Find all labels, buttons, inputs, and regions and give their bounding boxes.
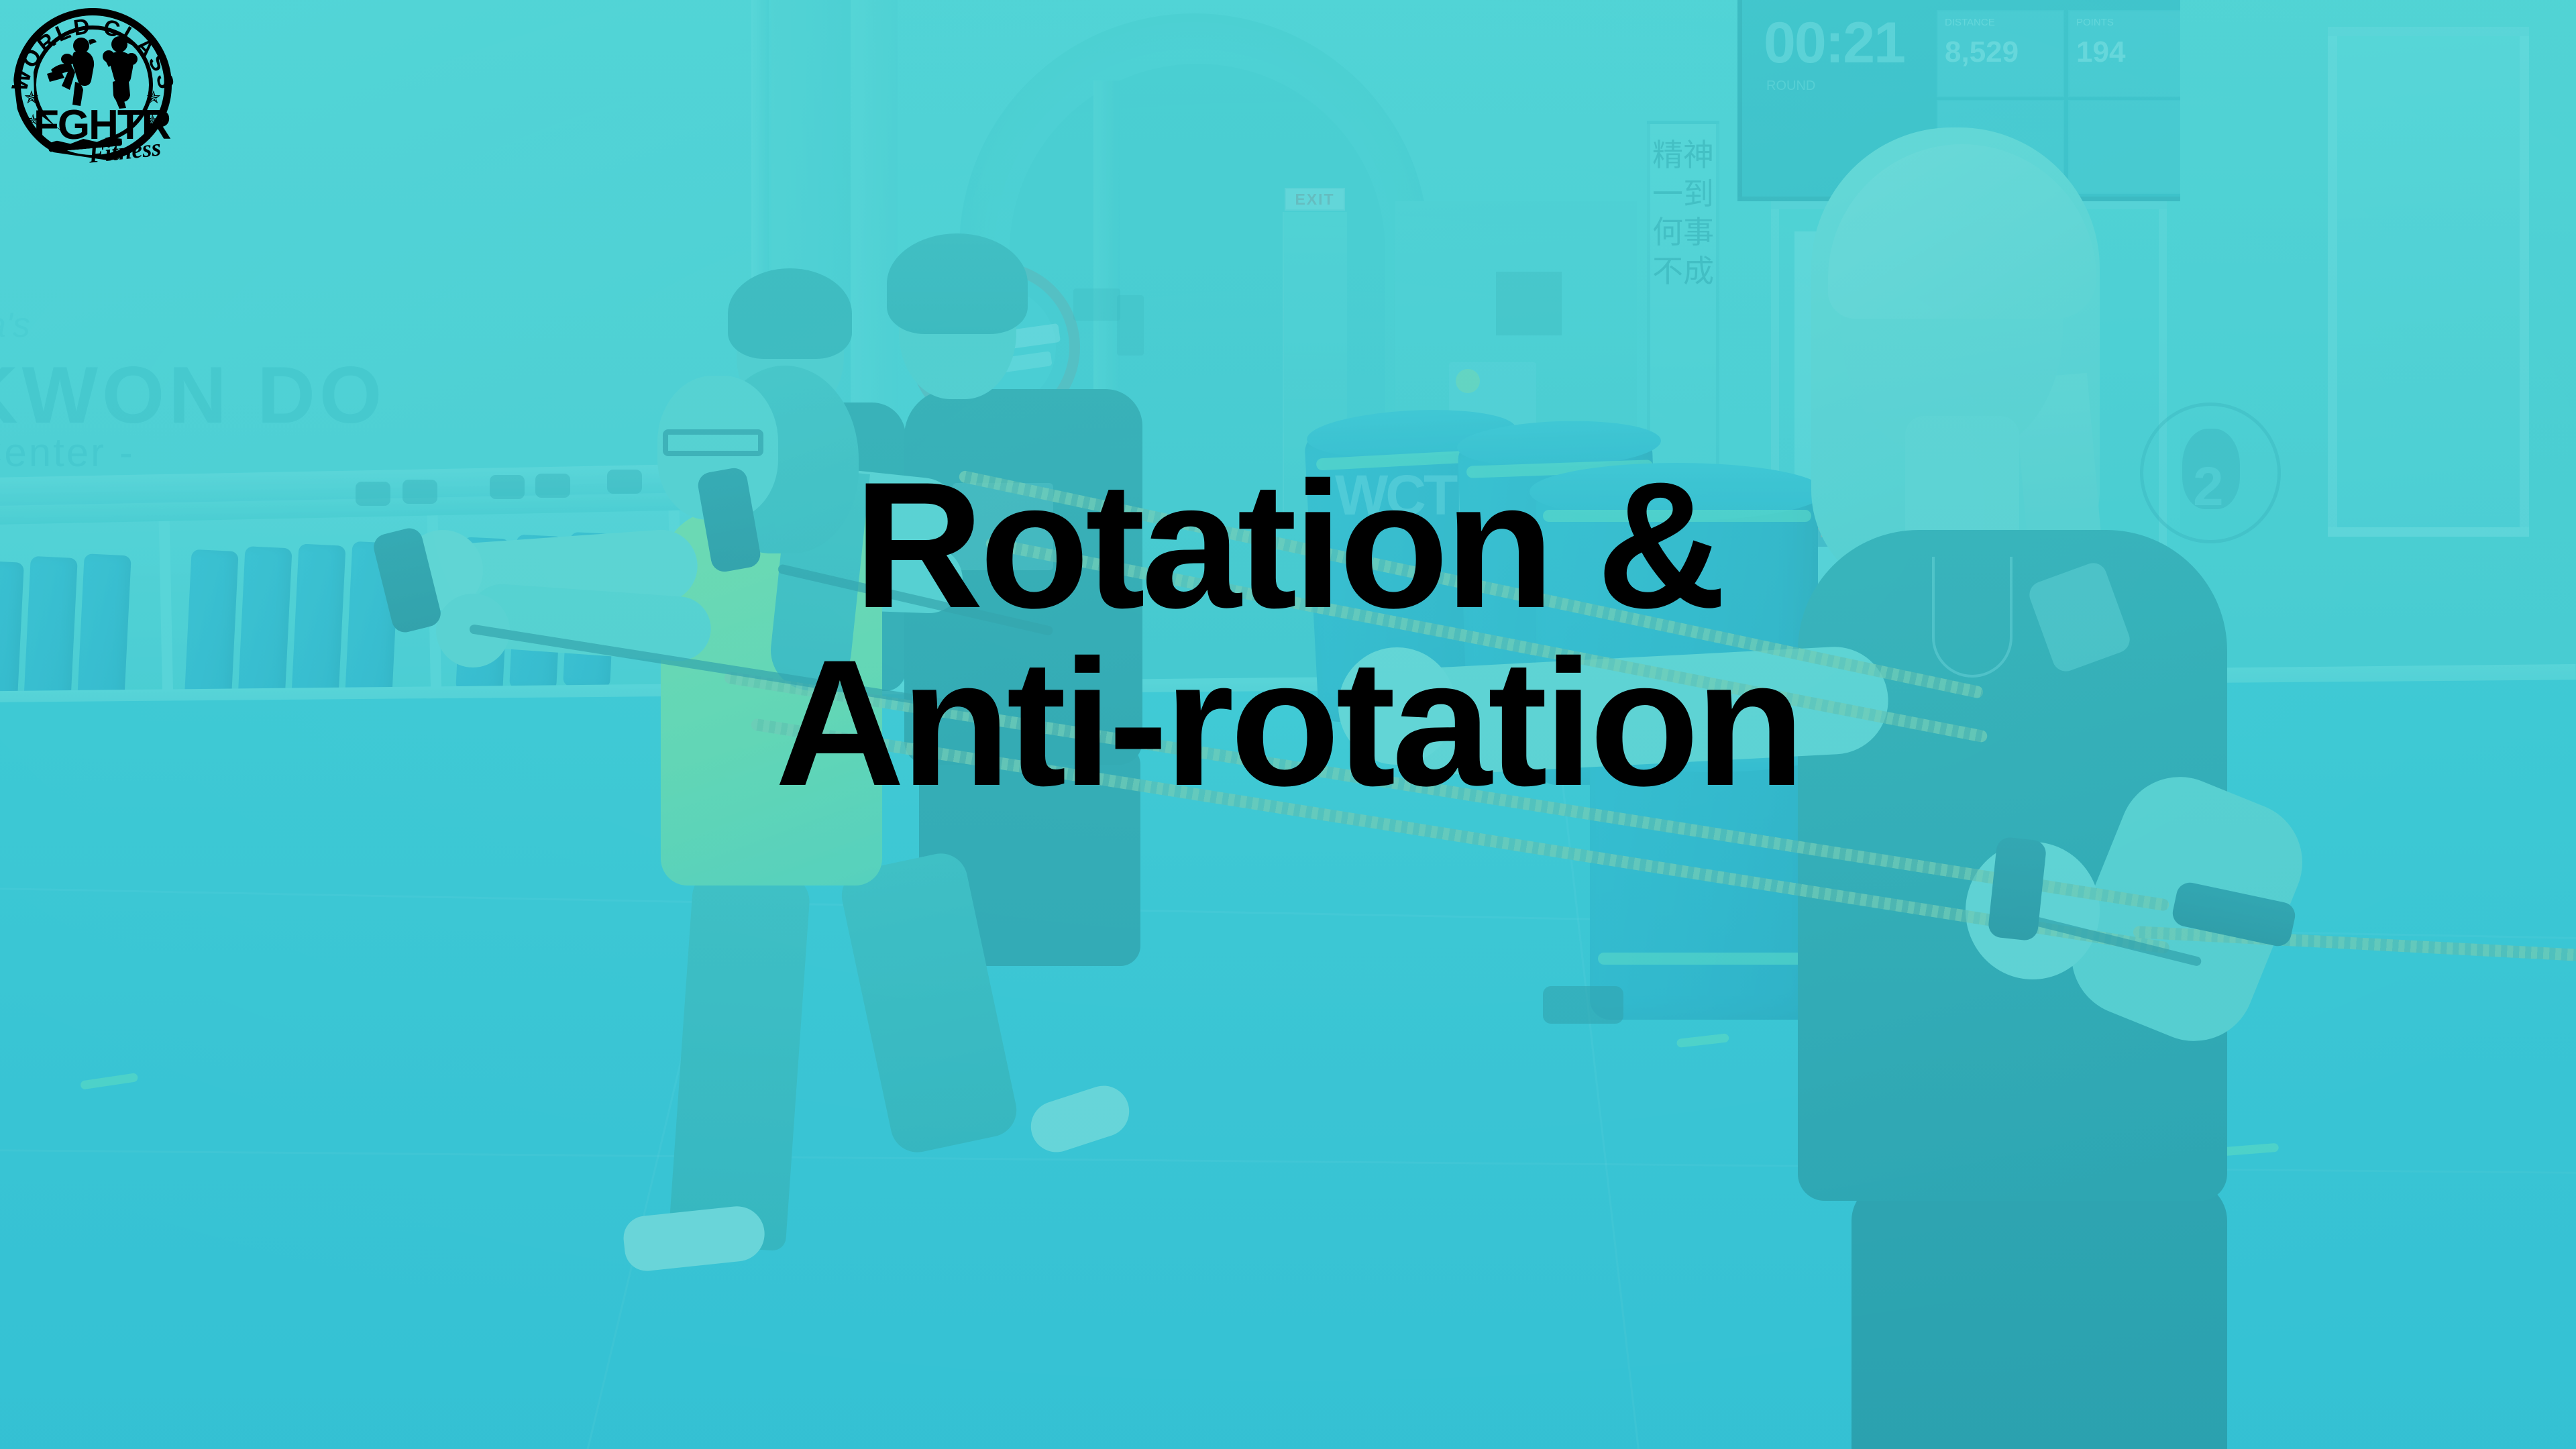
kickboxer-silhouettes-icon <box>44 35 142 109</box>
title-line-2: Anti-rotation <box>0 634 2576 812</box>
slide-canvas: a's KWON DO Center - <box>0 0 2576 1449</box>
slide-title: Rotation & Anti-rotation <box>0 456 2576 812</box>
title-line-1: Rotation & <box>0 456 2576 634</box>
fghtr-fitness-logo: WORLD CLASS <box>9 5 177 173</box>
